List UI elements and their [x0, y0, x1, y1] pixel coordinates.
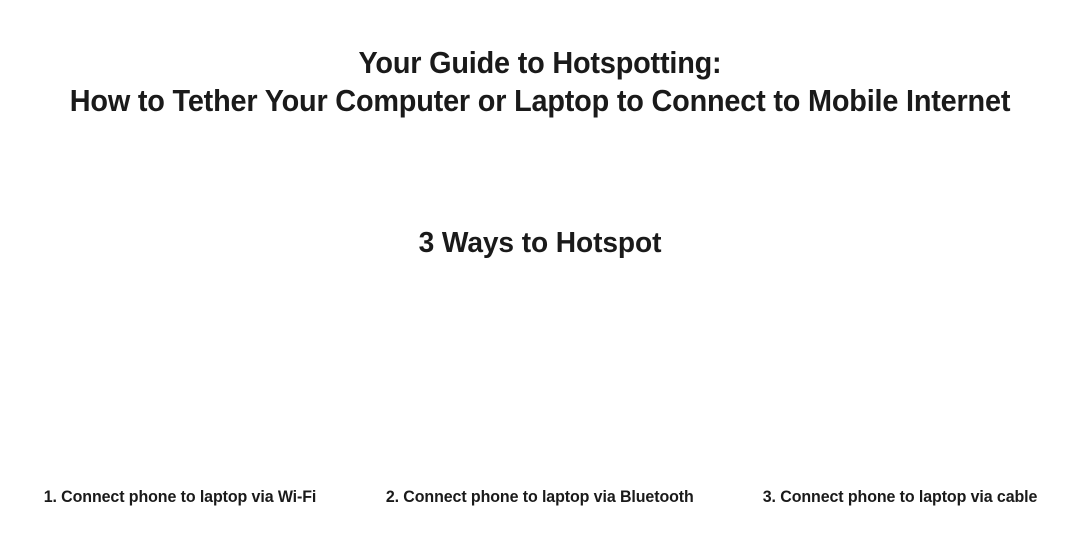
illustration-slot-bluetooth: [360, 286, 720, 476]
step-caption-bluetooth: 2. Connect phone to laptop via Bluetooth: [386, 486, 694, 508]
page-title: Your Guide to Hotspotting: How to Tether…: [0, 44, 1080, 120]
step-item-wifi: 1. Connect phone to laptop via Wi-Fi: [0, 486, 360, 508]
infographic-page: Your Guide to Hotspotting: How to Tether…: [0, 0, 1080, 552]
illustration-slot-cable: [720, 286, 1080, 476]
page-title-line-1: Your Guide to Hotspotting:: [38, 44, 1042, 82]
step-caption-row: 1. Connect phone to laptop via Wi-Fi 2. …: [0, 486, 1080, 508]
illustration-band: [0, 286, 1080, 476]
step-caption-cable: 3. Connect phone to laptop via cable: [763, 486, 1038, 508]
step-item-cable: 3. Connect phone to laptop via cable: [720, 486, 1080, 508]
step-item-bluetooth: 2. Connect phone to laptop via Bluetooth: [360, 486, 720, 508]
step-caption-wifi: 1. Connect phone to laptop via Wi-Fi: [44, 486, 317, 508]
illustration-slot-wifi: [0, 286, 360, 476]
page-title-line-2: How to Tether Your Computer or Laptop to…: [38, 82, 1042, 120]
section-heading: 3 Ways to Hotspot: [16, 226, 1064, 260]
